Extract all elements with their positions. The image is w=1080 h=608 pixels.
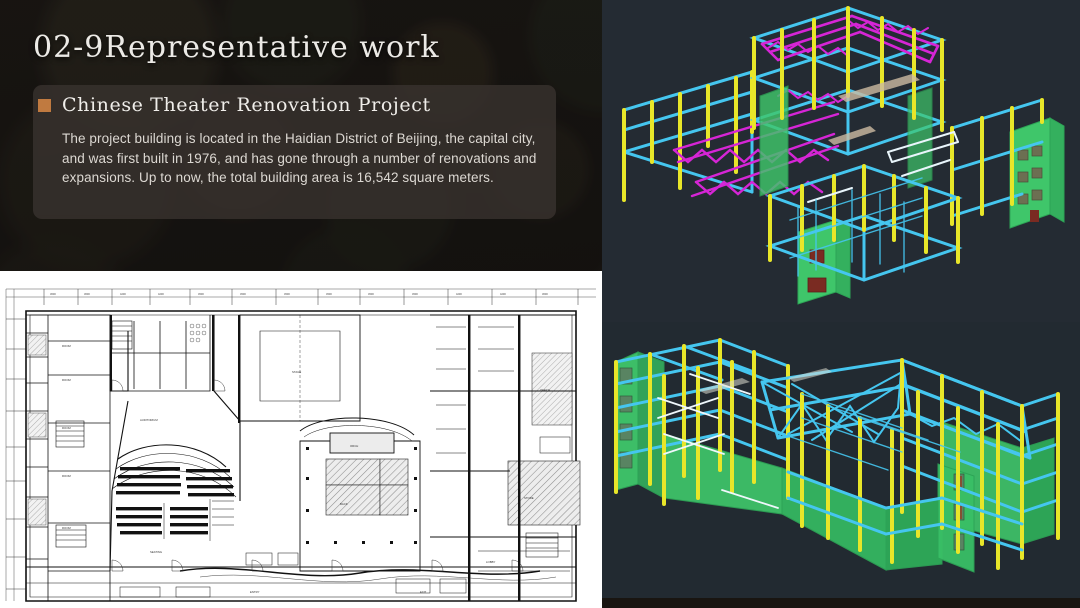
svg-text:ROOM: ROOM [62,426,71,430]
svg-text:4200: 4200 [500,292,506,296]
svg-text:4500: 4500 [240,292,246,296]
page-title: 02-9Representative work [33,30,440,65]
svg-text:BACK: BACK [340,502,348,506]
card-header: Chinese Theater Renovation Project [38,94,431,116]
svg-text:ORCH: ORCH [350,444,358,448]
svg-text:STORE: STORE [524,496,534,500]
svg-text:4500: 4500 [412,292,418,296]
svg-text:3600: 3600 [50,292,56,296]
project-subtitle: Chinese Theater Renovation Project [62,94,431,116]
bottom-edge-strip [602,598,1080,608]
svg-text:4500: 4500 [198,292,204,296]
svg-text:ROOM: ROOM [62,526,71,530]
bim-model-top-svg [602,0,1080,322]
svg-text:ENTRY: ENTRY [250,590,260,594]
svg-text:LOBBY: LOBBY [486,560,495,564]
svg-text:4200: 4200 [158,292,164,296]
svg-text:4500: 4500 [284,292,290,296]
svg-text:STAGE: STAGE [292,370,301,374]
svg-text:ROOM: ROOM [62,474,71,478]
structural-frame-model-bottom [602,322,1080,598]
svg-text:4500: 4500 [326,292,332,296]
presentation-slide: 02-9Representative work Chinese Theater … [0,0,1080,608]
project-info-card: Chinese Theater Renovation Project The p… [33,85,556,219]
orange-square-bullet-icon [38,99,51,112]
floor-plan-panel: 360036004200 420045004500 450045004500 4… [0,271,602,608]
svg-text:4500: 4500 [368,292,374,296]
floor-plan-drawing: 360036004200 420045004500 450045004500 4… [0,271,602,608]
svg-text:OFFICE: OFFICE [540,388,550,392]
bim-model-bottom-svg [602,322,1080,598]
svg-text:4200: 4200 [120,292,126,296]
svg-text:3600: 3600 [84,292,90,296]
svg-text:3600: 3600 [542,292,548,296]
svg-text:EXIT: EXIT [420,590,427,594]
svg-text:ROOM: ROOM [62,344,71,348]
svg-text:AUDITORIUM: AUDITORIUM [140,418,158,422]
structural-frame-model-top [602,0,1080,322]
svg-text:ROOM: ROOM [62,378,71,382]
project-description: The project building is located in the H… [62,129,540,188]
svg-text:SEATING: SEATING [150,550,162,554]
svg-text:4200: 4200 [456,292,462,296]
